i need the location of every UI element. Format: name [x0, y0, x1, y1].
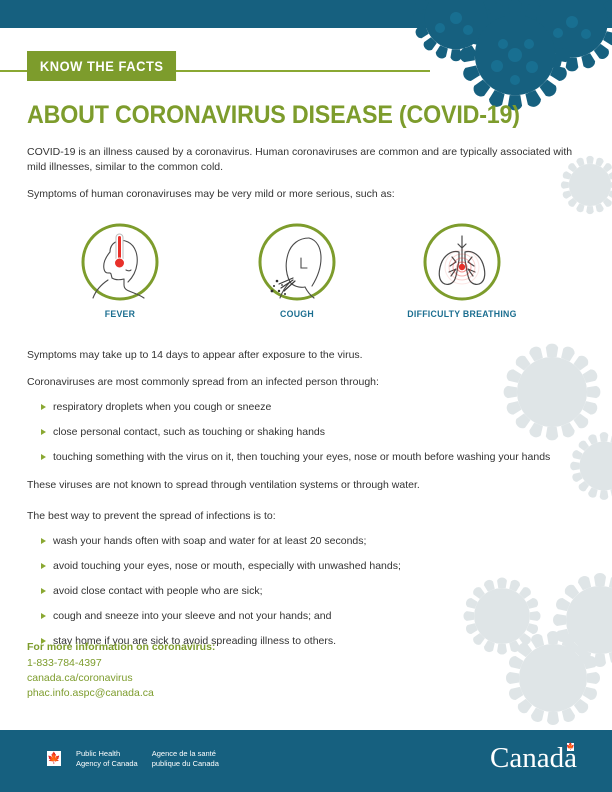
ventilation-text: These viruses are not known to spread th… [27, 478, 583, 493]
list-item-text: avoid close contact with people who are … [53, 585, 263, 597]
list-item: touching something with the virus on it,… [27, 450, 583, 464]
list-item: close personal contact, such as touching… [27, 425, 583, 439]
spread-list: respiratory droplets when you cough or s… [27, 400, 583, 464]
triangle-bullet-icon [41, 613, 46, 619]
list-item-text: avoid touching your eyes, nose or mouth,… [53, 560, 401, 572]
intro-paragraph-1: COVID-19 is an illness caused by a coron… [27, 145, 583, 175]
contact-heading: For more information on coronavirus: [27, 640, 215, 655]
list-item-text: touching something with the virus on it,… [53, 451, 550, 463]
phac-english-name: Public Health Agency of Canada [76, 749, 138, 768]
prevent-heading: The best way to prevent the spread of in… [27, 509, 583, 524]
head-cough-icon [257, 222, 337, 302]
list-item: respiratory droplets when you cough or s… [27, 400, 583, 414]
list-item-text: respiratory droplets when you cough or s… [53, 401, 271, 413]
triangle-bullet-icon [41, 404, 46, 410]
incubation-text: Symptoms may take up to 14 days to appea… [27, 348, 583, 363]
symptom-fever: FEVER [40, 222, 200, 320]
lungs-icon [422, 222, 502, 302]
page-title: ABOUT CORONAVIRUS DISEASE (COVID-19) [27, 103, 520, 128]
canada-flag-icon: 🍁 [40, 751, 68, 766]
intro-paragraph-2: Symptoms of human coronaviruses may be v… [27, 187, 583, 202]
phac-en-line-2: Agency of Canada [76, 759, 138, 769]
list-item: wash your hands often with soap and wate… [27, 534, 583, 548]
triangle-bullet-icon [41, 538, 46, 544]
contact-phone[interactable]: 1-833-784-4397 [27, 656, 215, 671]
list-item: avoid touching your eyes, nose or mouth,… [27, 559, 583, 573]
symptom-label: FEVER [46, 309, 193, 320]
list-item-text: wash your hands often with soap and wate… [53, 535, 366, 547]
wordmark-flag-icon: 🍁 [563, 743, 578, 751]
contact-email-link[interactable]: phac.info.aspc@canada.ca [27, 686, 215, 701]
phac-french-name: Agence de la santé publique du Canada [152, 749, 219, 768]
symptom-difficulty-breathing: DIFFICULTY BREATHING [382, 222, 542, 320]
phac-en-line-1: Public Health [76, 749, 138, 759]
thermometer-glyph [115, 234, 125, 268]
phac-fr-line-2: publique du Canada [152, 759, 219, 769]
phac-signature: 🍁 Public Health Agency of Canada Agence … [40, 749, 233, 768]
list-item: cough and sneeze into your sleeve and no… [27, 609, 583, 623]
top-teal-band [0, 0, 612, 28]
head-thermometer-icon [80, 222, 160, 302]
contact-block: For more information on coronavirus: 1-8… [27, 640, 215, 701]
triangle-bullet-icon [41, 454, 46, 460]
symptom-label: COUGH [223, 309, 370, 320]
symptom-label: DIFFICULTY BREATHING [388, 309, 535, 320]
spread-heading: Coronaviruses are most commonly spread f… [27, 375, 583, 390]
triangle-bullet-icon [41, 563, 46, 569]
know-the-facts-badge: KNOW THE FACTS [27, 51, 176, 81]
poster-page: KNOW THE FACTS ABOUT CORONAVIRUS DISEASE… [0, 0, 612, 792]
contact-website-link[interactable]: canada.ca/coronavirus [27, 671, 215, 686]
footer-bar: 🍁 Public Health Agency of Canada Agence … [0, 730, 612, 792]
body-block: Symptoms may take up to 14 days to appea… [27, 348, 583, 660]
list-item-text: cough and sneeze into your sleeve and no… [53, 610, 331, 622]
list-item: avoid close contact with people who are … [27, 584, 583, 598]
triangle-bullet-icon [41, 429, 46, 435]
phac-fr-line-1: Agence de la santé [152, 749, 219, 759]
canada-wordmark: Canada 🍁 [490, 744, 577, 773]
symptoms-row: FEVER [0, 222, 612, 332]
symptom-cough: COUGH [217, 222, 377, 320]
prevention-list: wash your hands often with soap and wate… [27, 534, 583, 648]
list-item-text: close personal contact, such as touching… [53, 426, 325, 438]
intro-block: COVID-19 is an illness caused by a coron… [27, 145, 583, 214]
triangle-bullet-icon [41, 588, 46, 594]
